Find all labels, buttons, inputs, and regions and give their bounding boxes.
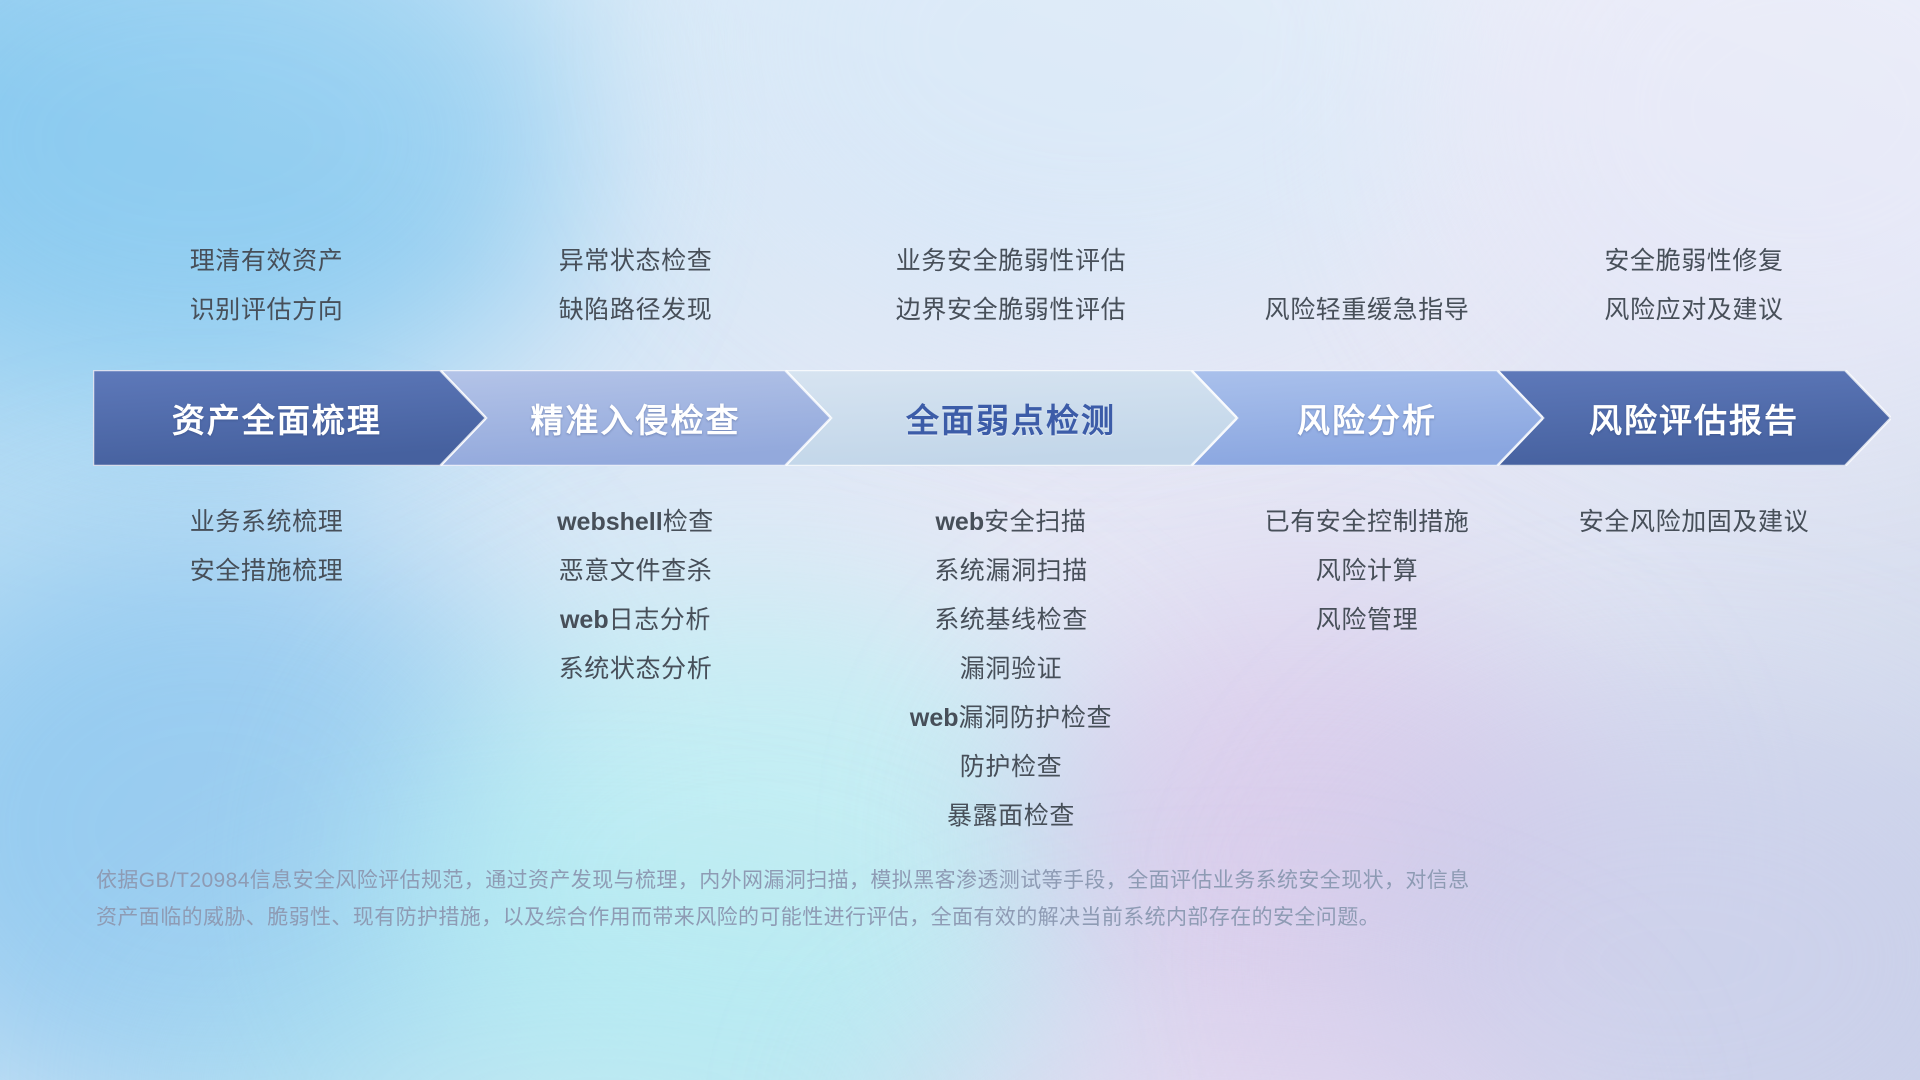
process-stage-title: 精准入侵检查 <box>531 394 741 442</box>
process-stage-title: 全面弱点检测 <box>906 394 1116 442</box>
process-stage-3[interactable]: 全面弱点检测 <box>785 370 1237 466</box>
bottom-label-item: web漏洞防护检查 <box>751 694 1271 743</box>
process-stage-2[interactable]: 精准入侵检查 <box>440 370 831 466</box>
footer-line-1: 依据GB/T20984信息安全风险评估规范，通过资产发现与梳理，内外网漏洞扫描，… <box>96 862 1696 899</box>
bottom-label-item: 暴露面检查 <box>751 792 1271 841</box>
process-chevron-band: 资产全面梳理精准入侵检查全面弱点检测风险分析风险评估报告 <box>93 370 1845 466</box>
bottom-labels-stage-5: 安全风险加固及建议 <box>1434 498 1920 547</box>
process-stage-title: 资产全面梳理 <box>172 394 382 442</box>
process-stage-4[interactable]: 风险分析 <box>1191 370 1543 466</box>
bottom-label-item: 防护检查 <box>751 743 1271 792</box>
top-labels-stage-5: 安全脆弱性修复风险应对及建议 <box>1434 237 1920 335</box>
top-label-item: 安全脆弱性修复 <box>1434 237 1920 286</box>
footer-line-2: 资产面临的威胁、脆弱性、现有防护措施，以及综合作用而带来风险的可能性进行评估，全… <box>96 899 1696 936</box>
bottom-label-item: 安全风险加固及建议 <box>1434 498 1920 547</box>
bottom-label-item: 风险管理 <box>1107 596 1627 645</box>
process-stage-title: 风险分析 <box>1297 394 1437 442</box>
footer-description: 依据GB/T20984信息安全风险评估规范，通过资产发现与梳理，内外网漏洞扫描，… <box>96 862 1696 936</box>
top-label-item: 业务安全脆弱性评估 <box>751 237 1271 286</box>
process-stage-5[interactable]: 风险评估报告 <box>1497 370 1891 466</box>
process-stage-1[interactable]: 资产全面梳理 <box>93 370 486 466</box>
process-stage-title: 风险评估报告 <box>1589 394 1799 442</box>
bottom-label-item: 漏洞验证 <box>751 645 1271 694</box>
bottom-label-item: 风险计算 <box>1107 547 1627 596</box>
top-label-item: 风险应对及建议 <box>1434 286 1920 335</box>
